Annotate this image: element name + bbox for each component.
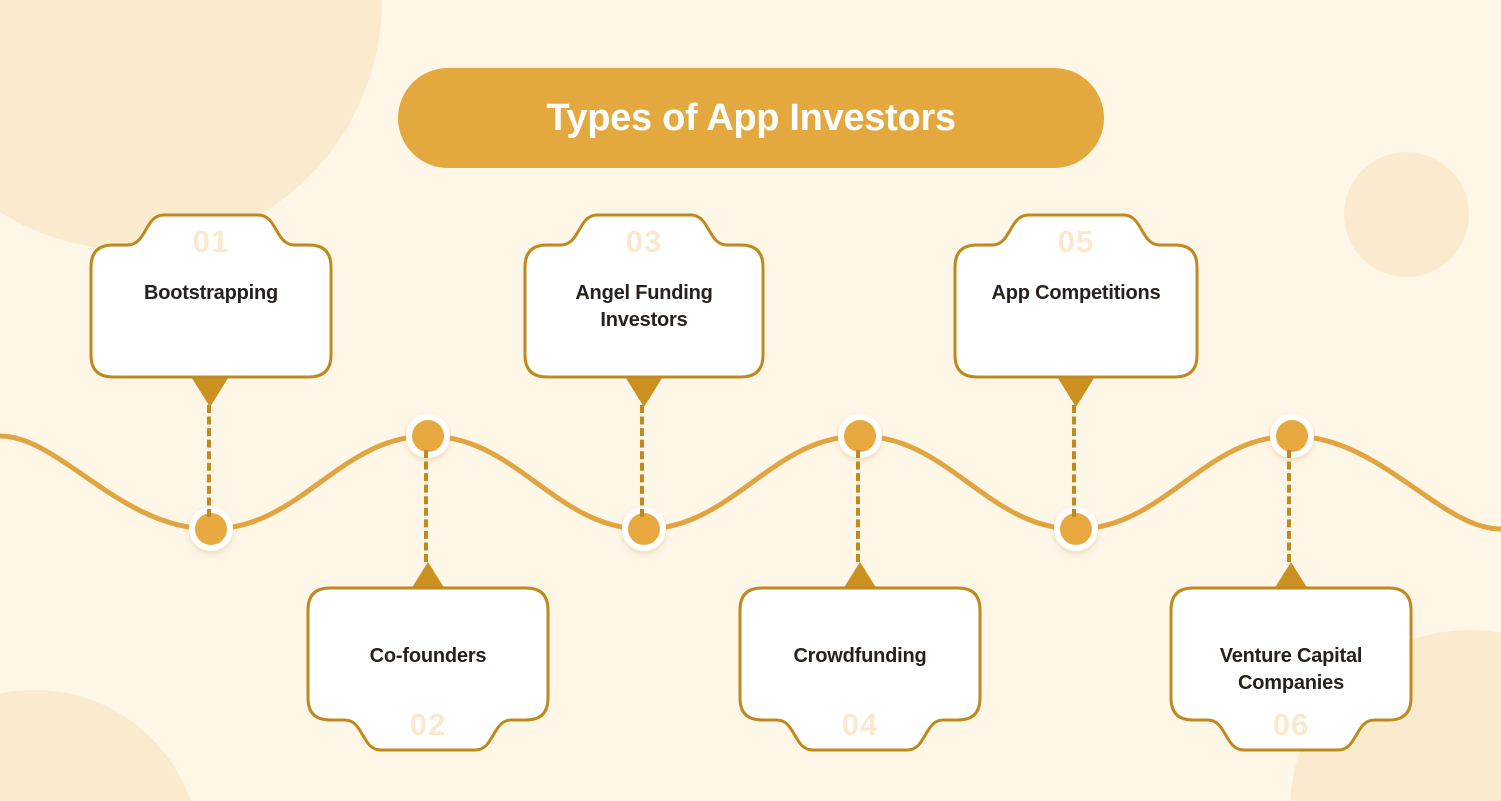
connector-line-04	[856, 450, 860, 562]
timeline-dot-core	[412, 420, 444, 452]
timeline-dot-core	[195, 513, 227, 545]
card-label: Venture Capital Companies	[1168, 643, 1414, 697]
timeline-dot-core	[1060, 513, 1092, 545]
card-label: Co-founders	[305, 643, 551, 670]
connector-line-06	[1287, 450, 1291, 562]
investor-card-02[interactable]: 02Co-founders	[305, 585, 551, 753]
page-title-banner: Types of App Investors	[398, 68, 1104, 168]
wave-line	[0, 436, 1501, 529]
connector-line-05	[1072, 405, 1076, 517]
card-number: 03	[522, 224, 766, 260]
timeline-dot-core	[628, 513, 660, 545]
timeline-dot-1[interactable]	[189, 507, 233, 551]
timeline-dot-ring	[189, 507, 233, 551]
card-number: 01	[88, 224, 334, 260]
timeline-dot-4[interactable]	[838, 414, 882, 458]
decorative-circle-right	[1344, 152, 1469, 277]
timeline-dot-core	[844, 420, 876, 452]
card-number: 04	[737, 707, 983, 743]
card-number: 06	[1168, 707, 1414, 743]
timeline-dot-ring	[1270, 414, 1314, 458]
infographic-canvas: Types of App Investors 01Bootstrapping02…	[0, 0, 1501, 801]
card-label: Bootstrapping	[88, 280, 334, 307]
investor-card-05[interactable]: 05App Competitions	[952, 212, 1200, 380]
timeline-dot-core	[1276, 420, 1308, 452]
card-label: Crowdfunding	[737, 643, 983, 670]
timeline-dot-6[interactable]	[1270, 414, 1314, 458]
connector-line-03	[640, 405, 644, 517]
timeline-dot-2[interactable]	[406, 414, 450, 458]
investor-card-01[interactable]: 01Bootstrapping	[88, 212, 334, 380]
page-title: Types of App Investors	[546, 97, 955, 140]
timeline-dot-ring	[406, 414, 450, 458]
decorative-circle-bottom-left	[0, 690, 200, 801]
timeline-dot-ring	[1054, 507, 1098, 551]
timeline-dot-3[interactable]	[622, 507, 666, 551]
investor-card-04[interactable]: 04Crowdfunding	[737, 585, 983, 753]
timeline-dot-ring	[838, 414, 882, 458]
card-number: 02	[305, 707, 551, 743]
investor-card-03[interactable]: 03Angel Funding Investors	[522, 212, 766, 380]
connector-line-01	[207, 405, 211, 517]
investor-card-06[interactable]: 06Venture Capital Companies	[1168, 585, 1414, 753]
card-label: App Competitions	[952, 280, 1200, 307]
connector-line-02	[424, 450, 428, 562]
timeline-dot-5[interactable]	[1054, 507, 1098, 551]
card-label: Angel Funding Investors	[522, 280, 766, 334]
timeline-dot-ring	[622, 507, 666, 551]
card-number: 05	[952, 224, 1200, 260]
